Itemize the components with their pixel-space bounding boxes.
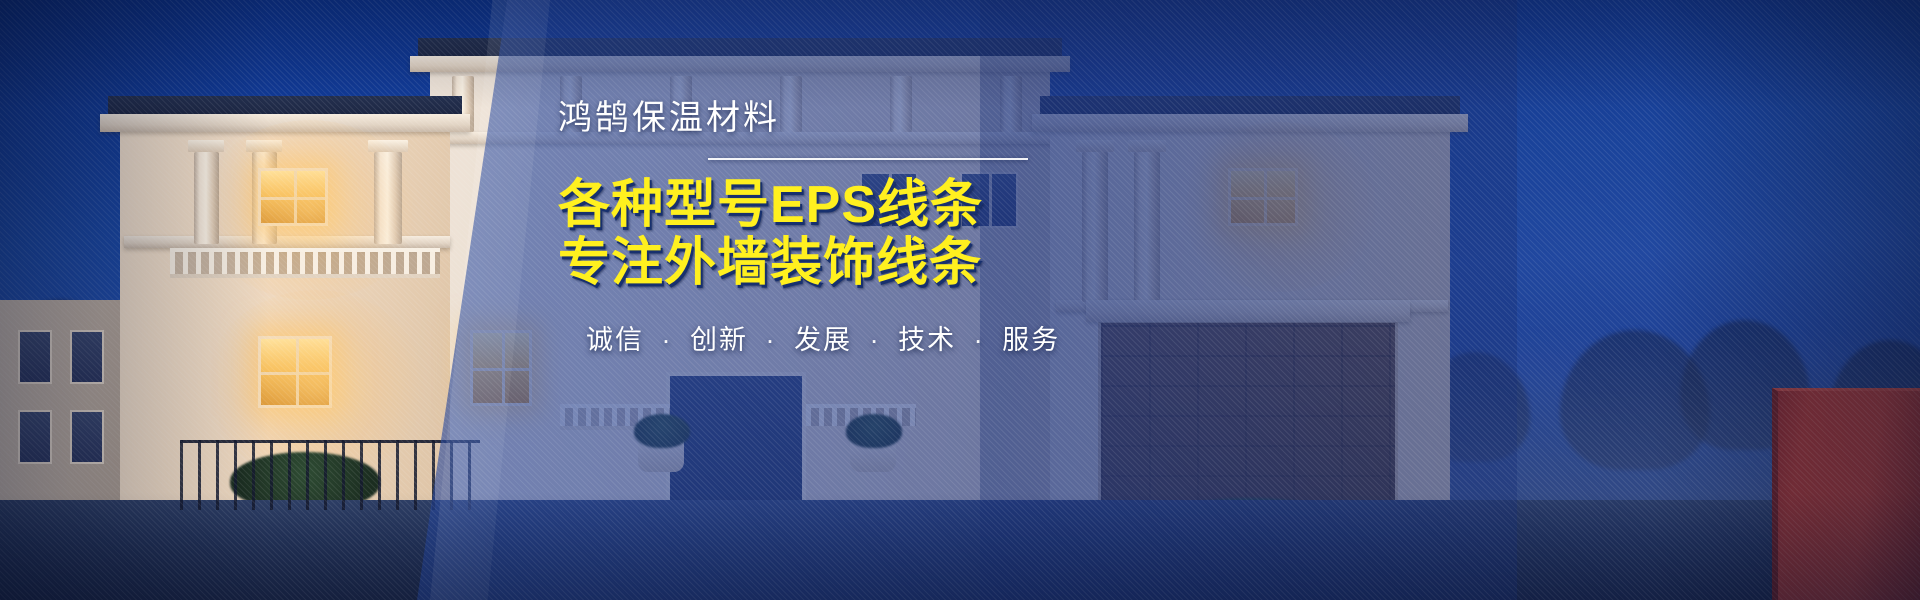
annex-window: [18, 330, 52, 384]
slogan-separator: ·: [870, 325, 881, 355]
portico-column: [194, 152, 219, 244]
window-lit: [258, 336, 332, 408]
hero-banner: 鸿鹄保温材料 各种型号EPS线条 专注外墙装饰线条 诚信 · 创新 · 发展 ·…: [0, 0, 1920, 600]
annex-window: [70, 410, 104, 464]
window-lit: [258, 168, 328, 226]
annex-window: [70, 330, 104, 384]
slogan-separator: ·: [974, 325, 985, 355]
banner-text-block: 鸿鹄保温材料 各种型号EPS线条 专注外墙装饰线条 诚信 · 创新 · 发展 ·…: [558, 96, 1028, 357]
annex-window: [18, 410, 52, 464]
slogan-item: 发展: [794, 325, 852, 355]
left-wing-cornice: [100, 114, 470, 132]
column-capital: [246, 140, 282, 152]
portico-column: [374, 152, 402, 244]
title-divider: [708, 158, 1028, 160]
slogan-separator: ·: [766, 325, 777, 355]
headline-line-2: 专注外墙装饰线条: [558, 234, 1028, 292]
headline-line-1: 各种型号EPS线条: [558, 176, 1028, 234]
balcony-balustrade: [170, 248, 440, 278]
slogan-item: 创新: [690, 325, 748, 355]
slogan-item: 服务: [1002, 325, 1060, 355]
slogan-item: 诚信: [586, 325, 644, 355]
column-capital: [368, 140, 408, 152]
slogan: 诚信 · 创新 · 发展 · 技术 · 服务: [586, 318, 1028, 357]
company-name: 鸿鹄保温材料: [558, 96, 1028, 142]
column-capital: [188, 140, 224, 152]
slogan-item: 技术: [898, 325, 956, 355]
slogan-separator: ·: [662, 325, 673, 355]
headline-group: 各种型号EPS线条 专注外墙装饰线条: [558, 176, 1028, 292]
blue-overlay-panel-right: [980, 0, 1920, 600]
